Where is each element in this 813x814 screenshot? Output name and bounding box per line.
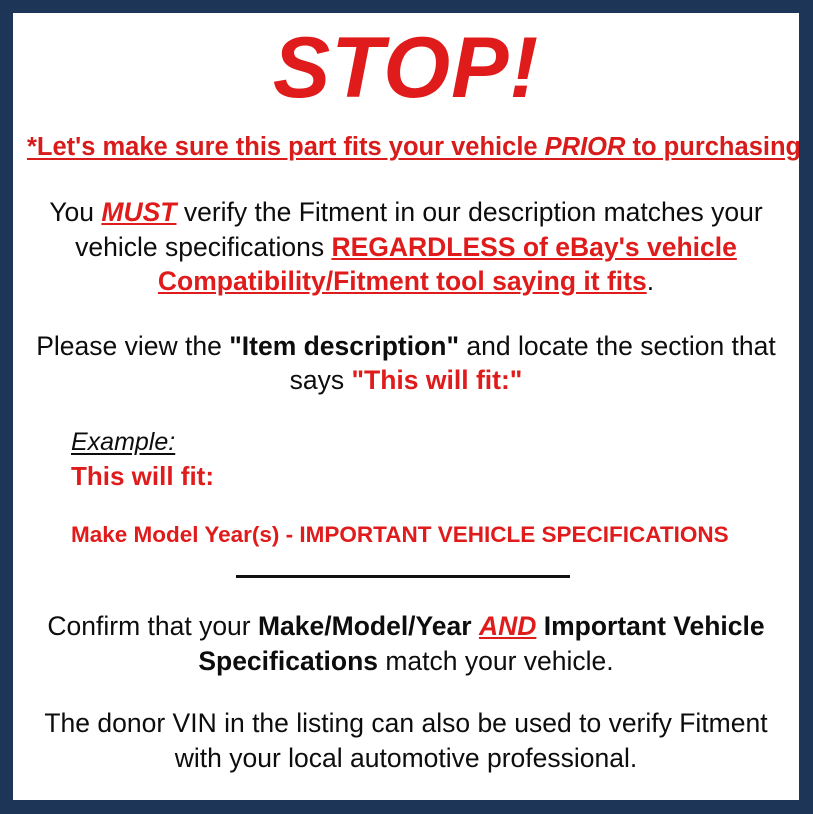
spacer-2 — [536, 611, 543, 641]
this-will-fit-quote: "This will fit:" — [351, 365, 522, 395]
notice-content: STOP! *Let's make sure this part fits yo… — [13, 25, 799, 812]
subtitle-emphasis-prior: PRIOR — [545, 133, 626, 161]
spacer-1 — [472, 611, 479, 641]
subtitle-before: *Let's make sure this part fits your veh… — [27, 133, 545, 161]
paragraph-confirm: Confirm that your Make/Model/Year AND Im… — [27, 609, 785, 678]
paragraph-must-verify: You MUST verify the Fitment in our descr… — [27, 195, 785, 298]
fitment-notice-card: STOP! *Let's make sure this part fits yo… — [0, 0, 813, 814]
divider-container — [27, 571, 785, 585]
must-seg1: You — [49, 197, 101, 227]
closing-thank-you: Thank you for confirming Fitment! — [27, 801, 785, 814]
paragraph-item-description: Please view the "Item description" and l… — [27, 329, 785, 398]
confirm-seg1: Confirm that your — [47, 611, 258, 641]
confirm-seg2: match your vehicle. — [378, 646, 614, 676]
stop-headline: STOP! — [27, 25, 785, 111]
must-seg3: . — [647, 266, 654, 296]
horizontal-rule — [236, 575, 570, 578]
example-label: Example: — [71, 428, 175, 457]
example-fit-header: This will fit: — [71, 461, 785, 492]
subtitle-after: to purchasing* — [625, 133, 811, 161]
paragraph-donor-vin: The donor VIN in the listing can also be… — [27, 706, 785, 775]
example-label-row: Example: — [71, 428, 785, 457]
example-block: Example: This will fit: Make Model Year(… — [27, 428, 785, 549]
and-emphasis: AND — [479, 611, 536, 641]
must-emphasis: MUST — [101, 197, 176, 227]
item-description-label: "Item description" — [229, 331, 459, 361]
make-model-year-bold: Make/Model/Year — [258, 611, 472, 641]
subtitle-line: *Let's make sure this part fits your veh… — [27, 133, 785, 162]
desc-seg1: Please view the — [36, 331, 229, 361]
example-spec-line: Make Model Year(s) - IMPORTANT VEHICLE S… — [71, 521, 785, 548]
